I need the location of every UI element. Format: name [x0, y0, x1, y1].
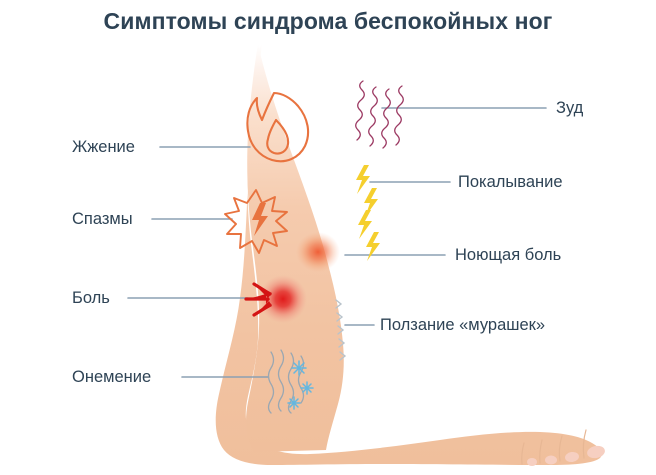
lightning-bolts-icon [356, 165, 380, 261]
symptom-label-spasms: Спазмы [72, 211, 133, 228]
symptom-label-numbness: Онемение [72, 369, 151, 386]
symptom-label-aching-pain: Ноющая боль [455, 247, 561, 264]
leg-illustration [0, 0, 656, 475]
symptom-label-crawling: Ползание «мурашек» [380, 317, 545, 334]
infographic-page: Симптомы синдрома беспокойных ног [0, 0, 656, 475]
symptom-label-burning: Жжение [72, 139, 135, 156]
symptom-label-pain: Боль [72, 290, 110, 307]
symptom-label-tingling: Покалывание [458, 174, 563, 191]
zigzag-lines-icon [356, 81, 404, 148]
symptom-label-itching: Зуд [556, 100, 583, 117]
soft-glow-icon [296, 232, 340, 272]
